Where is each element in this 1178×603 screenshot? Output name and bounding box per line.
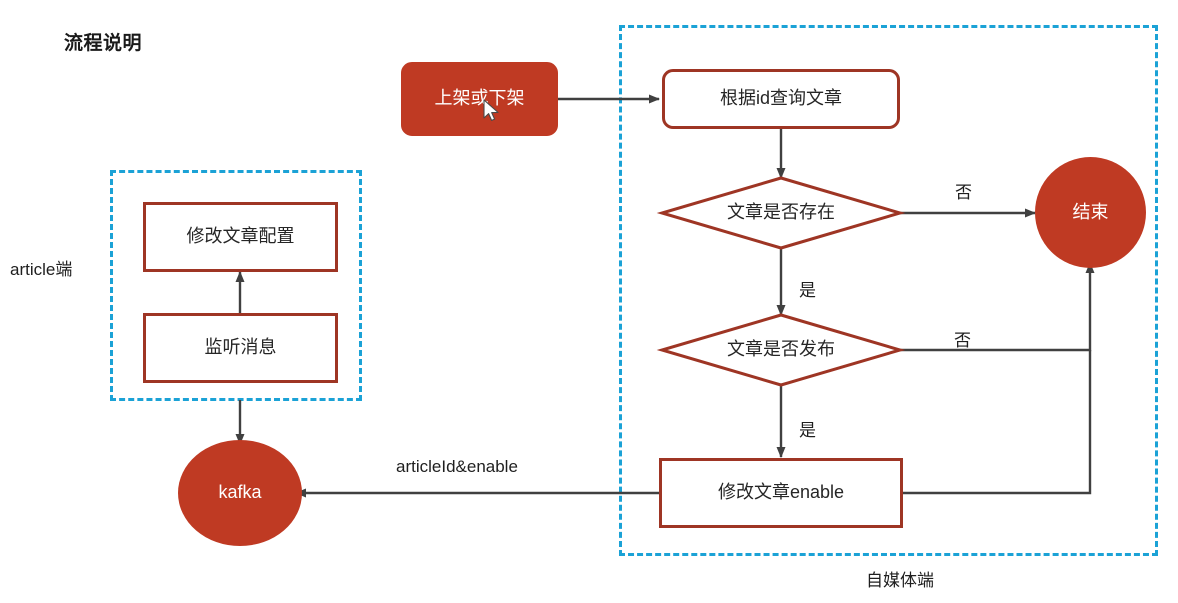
node-listen-message[interactable]: 监听消息 bbox=[143, 313, 338, 383]
node-decision-published-label: 文章是否发布 bbox=[662, 315, 900, 385]
node-listen-message-label: 监听消息 bbox=[205, 337, 277, 359]
node-end-label: 结束 bbox=[1073, 202, 1109, 224]
node-query-article[interactable]: 根据id查询文章 bbox=[662, 69, 900, 129]
node-modify-config[interactable]: 修改文章配置 bbox=[143, 202, 338, 272]
node-start-label: 上架或下架 bbox=[435, 88, 525, 110]
edge-label-exists-yes: 是 bbox=[799, 276, 816, 301]
node-decision-exists[interactable]: 文章是否存在 bbox=[662, 178, 900, 248]
node-modify-enable[interactable]: 修改文章enable bbox=[659, 458, 903, 528]
page-title: 流程说明 bbox=[64, 28, 142, 55]
node-decision-published[interactable]: 文章是否发布 bbox=[662, 315, 900, 385]
node-modify-enable-label: 修改文章enable bbox=[718, 482, 844, 504]
edge-label-kafka-payload: articleId&enable bbox=[396, 457, 518, 477]
node-kafka[interactable]: kafka bbox=[178, 440, 302, 546]
media-group-label: 自媒体端 bbox=[866, 566, 934, 591]
node-modify-config-label: 修改文章配置 bbox=[187, 226, 295, 248]
node-start[interactable]: 上架或下架 bbox=[401, 62, 558, 136]
edge-label-published-yes: 是 bbox=[799, 416, 816, 441]
node-end[interactable]: 结束 bbox=[1035, 157, 1146, 268]
node-query-article-label: 根据id查询文章 bbox=[720, 88, 842, 110]
node-decision-exists-label: 文章是否存在 bbox=[662, 178, 900, 248]
node-kafka-label: kafka bbox=[218, 482, 261, 504]
edge-label-published-no: 否 bbox=[954, 326, 971, 351]
edge-label-exists-no: 否 bbox=[955, 178, 972, 203]
article-group-label: article端 bbox=[10, 255, 72, 280]
flowchart-canvas: 流程说明 article端 自媒体端 bbox=[0, 0, 1178, 603]
